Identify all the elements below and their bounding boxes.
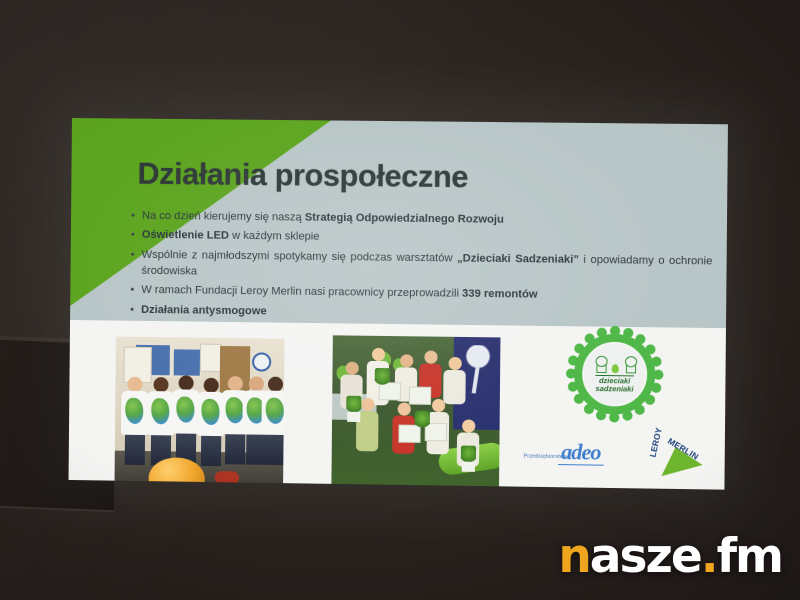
dzieciaki-sadzeniaki-badge: dzieciaki sadzeniaki xyxy=(571,330,659,418)
badge-text: dzieciaki sadzeniaki xyxy=(596,374,634,393)
bullet-text: Wspólnie z najmłodszymi spotykamy się po… xyxy=(141,248,712,287)
employees-group-photo xyxy=(115,337,285,488)
bullet-text-emphasis: Działania antysmogowe xyxy=(141,304,267,318)
bullet-marker-icon: • xyxy=(130,303,134,319)
bullet-text-run: W ramach Fundacji Leroy Merlin nasi prac… xyxy=(141,284,462,300)
bullet-text: W ramach Fundacji Leroy Merlin nasi prac… xyxy=(141,283,712,306)
bullet-marker-icon: • xyxy=(130,248,134,280)
bullet-text-emphasis: Strategią Odpowiedzialnego Rozwoju xyxy=(305,212,504,226)
badge-line-2: sadzeniaki xyxy=(596,384,634,393)
badge-inner: dzieciaki sadzeniaki xyxy=(584,344,646,405)
bullet-marker-icon: • xyxy=(131,209,135,225)
leroy-merlin-logo: LEROY MERLIN xyxy=(645,430,712,482)
bullet-text-run: Wspólnie z najmłodszymi spotykamy się po… xyxy=(142,249,458,265)
bullet-marker-icon: • xyxy=(130,283,134,299)
bullet-item: •Oświetlenie LED w każdym sklepie xyxy=(131,228,713,251)
bullet-item: •Na co dzień kierujemy się naszą Strateg… xyxy=(131,209,713,231)
projected-slide: Działania prospołeczne •Na co dzień kier… xyxy=(69,118,728,490)
slide-title: Działania prospołeczne xyxy=(137,157,468,196)
bullet-text: Na co dzień kierujemy się naszą Strategi… xyxy=(142,209,713,231)
bullet-item: •Wspólnie z najmłodszymi spotykamy się p… xyxy=(130,248,712,287)
bullet-text-emphasis: 339 remontów xyxy=(462,288,538,301)
bullet-text: Oświetlenie LED w każdym sklepie xyxy=(142,228,713,250)
watermark-asze: asze xyxy=(590,529,701,584)
leaf-icon xyxy=(611,364,618,373)
adeo-wordmark: adeo xyxy=(558,441,604,466)
bullet-text-emphasis: „Dzieciaki Sadzeniaki” xyxy=(457,252,579,265)
bullet-list: •Na co dzień kierujemy się naszą Strateg… xyxy=(130,209,713,330)
watermark-fm: fm xyxy=(717,529,782,584)
slide-canvas: Działania prospołeczne •Na co dzień kier… xyxy=(69,118,728,490)
bullet-text-run: Na co dzień kierujemy się naszą xyxy=(142,210,305,224)
children-event-photo xyxy=(331,335,500,489)
nasze-fm-watermark: nasze.fm xyxy=(558,533,782,580)
bullet-marker-icon: • xyxy=(131,228,135,244)
bullet-text-emphasis: Oświetlenie LED xyxy=(142,229,229,242)
bullet-text-run: w każdym sklepie xyxy=(229,230,320,243)
brand-logo-row: Przedsiębiorstwa adeo LEROY MERLIN xyxy=(523,434,716,475)
watermark-dot: . xyxy=(701,529,717,584)
watermark-n: n xyxy=(558,529,589,584)
badge-children-icon xyxy=(593,355,637,373)
white-content-band: dzieciaki sadzeniaki Przedsiębiorstwa ad… xyxy=(69,320,726,490)
